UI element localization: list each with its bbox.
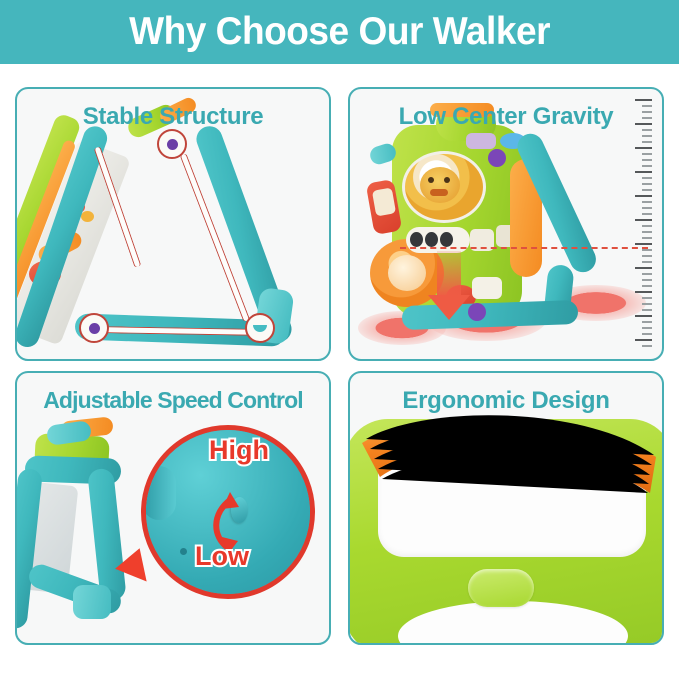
card-title-adjustable-speed-control: Adjustable Speed Control [17, 387, 329, 414]
speed-label-low: Low [195, 541, 249, 572]
piano-key-3 [440, 232, 453, 247]
measurement-ruler [632, 97, 654, 351]
steering-wheel-hub [388, 255, 426, 291]
feature-card-ergonomic-design: Ergonomic Design [348, 371, 664, 645]
feature-card-grid: Stable Structure [15, 87, 664, 655]
toy-bead-yellow [81, 211, 94, 222]
lion-face [420, 167, 460, 203]
piano-key-2 [425, 232, 438, 247]
infographic-page: Why Choose Our Walker [0, 0, 679, 679]
white-switch [472, 277, 502, 299]
feature-card-stable-structure: Stable Structure [15, 87, 331, 361]
card-title-stable-structure: Stable Structure [17, 103, 329, 131]
triangle-vertex-right [245, 313, 275, 343]
downward-arrow [428, 251, 470, 321]
joint-dot-top [488, 149, 506, 167]
triangle-vertex-top [157, 129, 187, 159]
feature-card-adjustable-speed-control: High Low Adjustable Speed Control [15, 371, 331, 645]
card-title-ergonomic-design: Ergonomic Design [350, 387, 662, 415]
walker-speed-knob-housing [73, 585, 111, 619]
lion-mouth [430, 189, 448, 196]
lion-eye-right [444, 177, 450, 183]
triangle-vertex-left [79, 313, 109, 343]
speed-label-high: High [209, 435, 269, 466]
feature-card-low-center-gravity: Low Center Gravity [348, 87, 664, 361]
header-banner: Why Choose Our Walker [0, 0, 679, 64]
center-of-gravity-dashed-line [400, 247, 648, 249]
card-title-low-center-gravity: Low Center Gravity [350, 103, 662, 131]
walker-right-leg [87, 468, 127, 602]
tile-purple [466, 133, 496, 149]
contour-mesh-overlay [366, 404, 654, 503]
lion-eye-left [428, 177, 434, 183]
joint-dot-bottom [468, 303, 486, 321]
page-title: Why Choose Our Walker [129, 10, 550, 54]
toy-phone-screen [372, 187, 396, 216]
piano-key-1 [410, 232, 423, 247]
